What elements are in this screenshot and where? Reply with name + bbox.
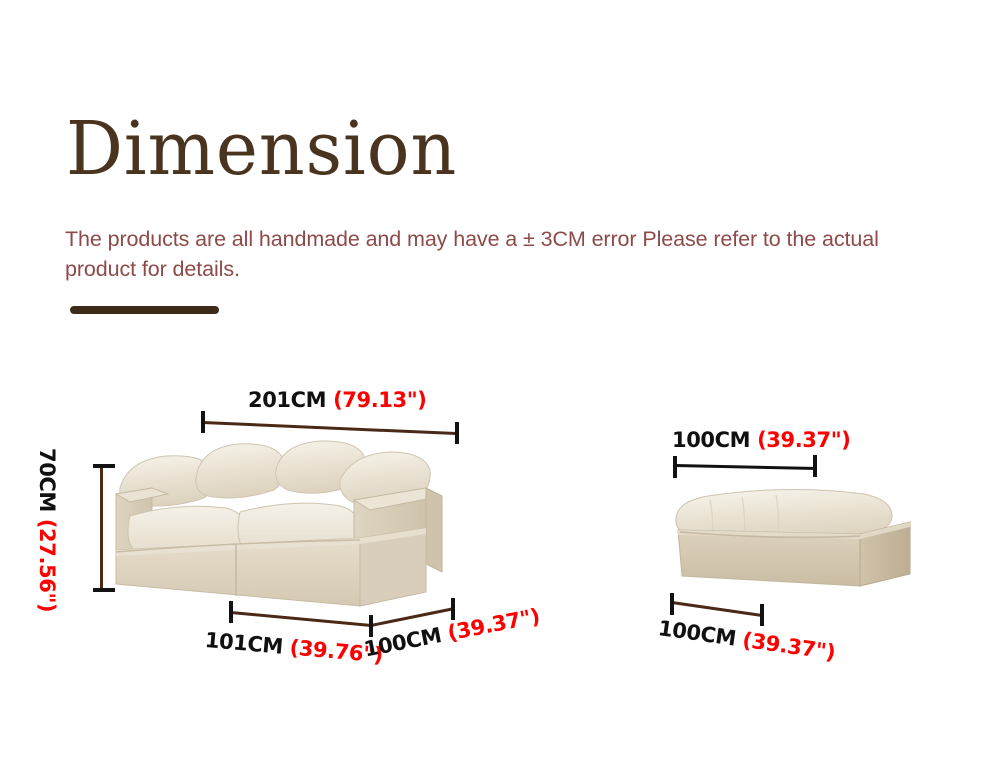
disclaimer-text: The products are all handmade and may ha…	[65, 224, 935, 284]
sofa-height-cap-top	[93, 464, 115, 468]
sofa-depth-left-label: 101CM (39.76")	[204, 628, 384, 667]
ottoman-width-cap-right	[813, 455, 817, 477]
ottoman-width-metric: 100CM	[672, 428, 750, 452]
ottoman-depth-dimension-line	[672, 601, 762, 617]
sofa-depth-right-cap	[451, 598, 455, 620]
page-title: Dimension	[66, 106, 457, 192]
sofa-height-metric: 70CM	[35, 448, 59, 512]
sofa-width-metric: 201CM	[248, 388, 326, 412]
dimension-infographic: Dimension The products are all handmade …	[0, 0, 990, 781]
sofa-width-imperial: (79.13")	[333, 388, 426, 412]
ottoman-depth-imperial: (39.37")	[741, 628, 837, 665]
sofa-depth-left-metric: 101CM	[204, 628, 284, 659]
sofa-graphic	[108, 432, 480, 622]
ottoman-depth-label: 100CM (39.37")	[657, 616, 837, 665]
sofa-width-cap-left	[201, 411, 205, 433]
ottoman-depth-metric: 100CM	[657, 616, 738, 651]
ottoman-depth-cap-left	[670, 593, 674, 615]
sofa-width-label: 201CM (79.13")	[248, 388, 426, 412]
sofa-height-cap-bottom	[93, 588, 115, 592]
sofa-height-imperial: (27.56")	[35, 519, 59, 612]
ottoman-width-label: 100CM (39.37")	[672, 428, 850, 452]
sofa-illustration	[108, 432, 480, 622]
sofa-width-cap-right	[455, 422, 459, 444]
ottoman-graphic	[668, 478, 928, 602]
sofa-height-label: 70CM (27.56")	[35, 448, 59, 612]
ottoman-depth-cap-right	[760, 604, 764, 626]
accent-divider	[70, 306, 219, 314]
ottoman-width-imperial: (39.37")	[757, 428, 850, 452]
sofa-depth-left-cap	[229, 601, 233, 623]
ottoman-width-cap-left	[673, 456, 677, 478]
sofa-depth-vertex-cap	[369, 615, 373, 637]
ottoman-illustration	[668, 478, 928, 602]
ottoman-width-dimension-line	[675, 464, 817, 470]
sofa-depth-right-metric: 100CM	[362, 623, 443, 661]
sofa-height-dimension-line	[100, 466, 103, 590]
